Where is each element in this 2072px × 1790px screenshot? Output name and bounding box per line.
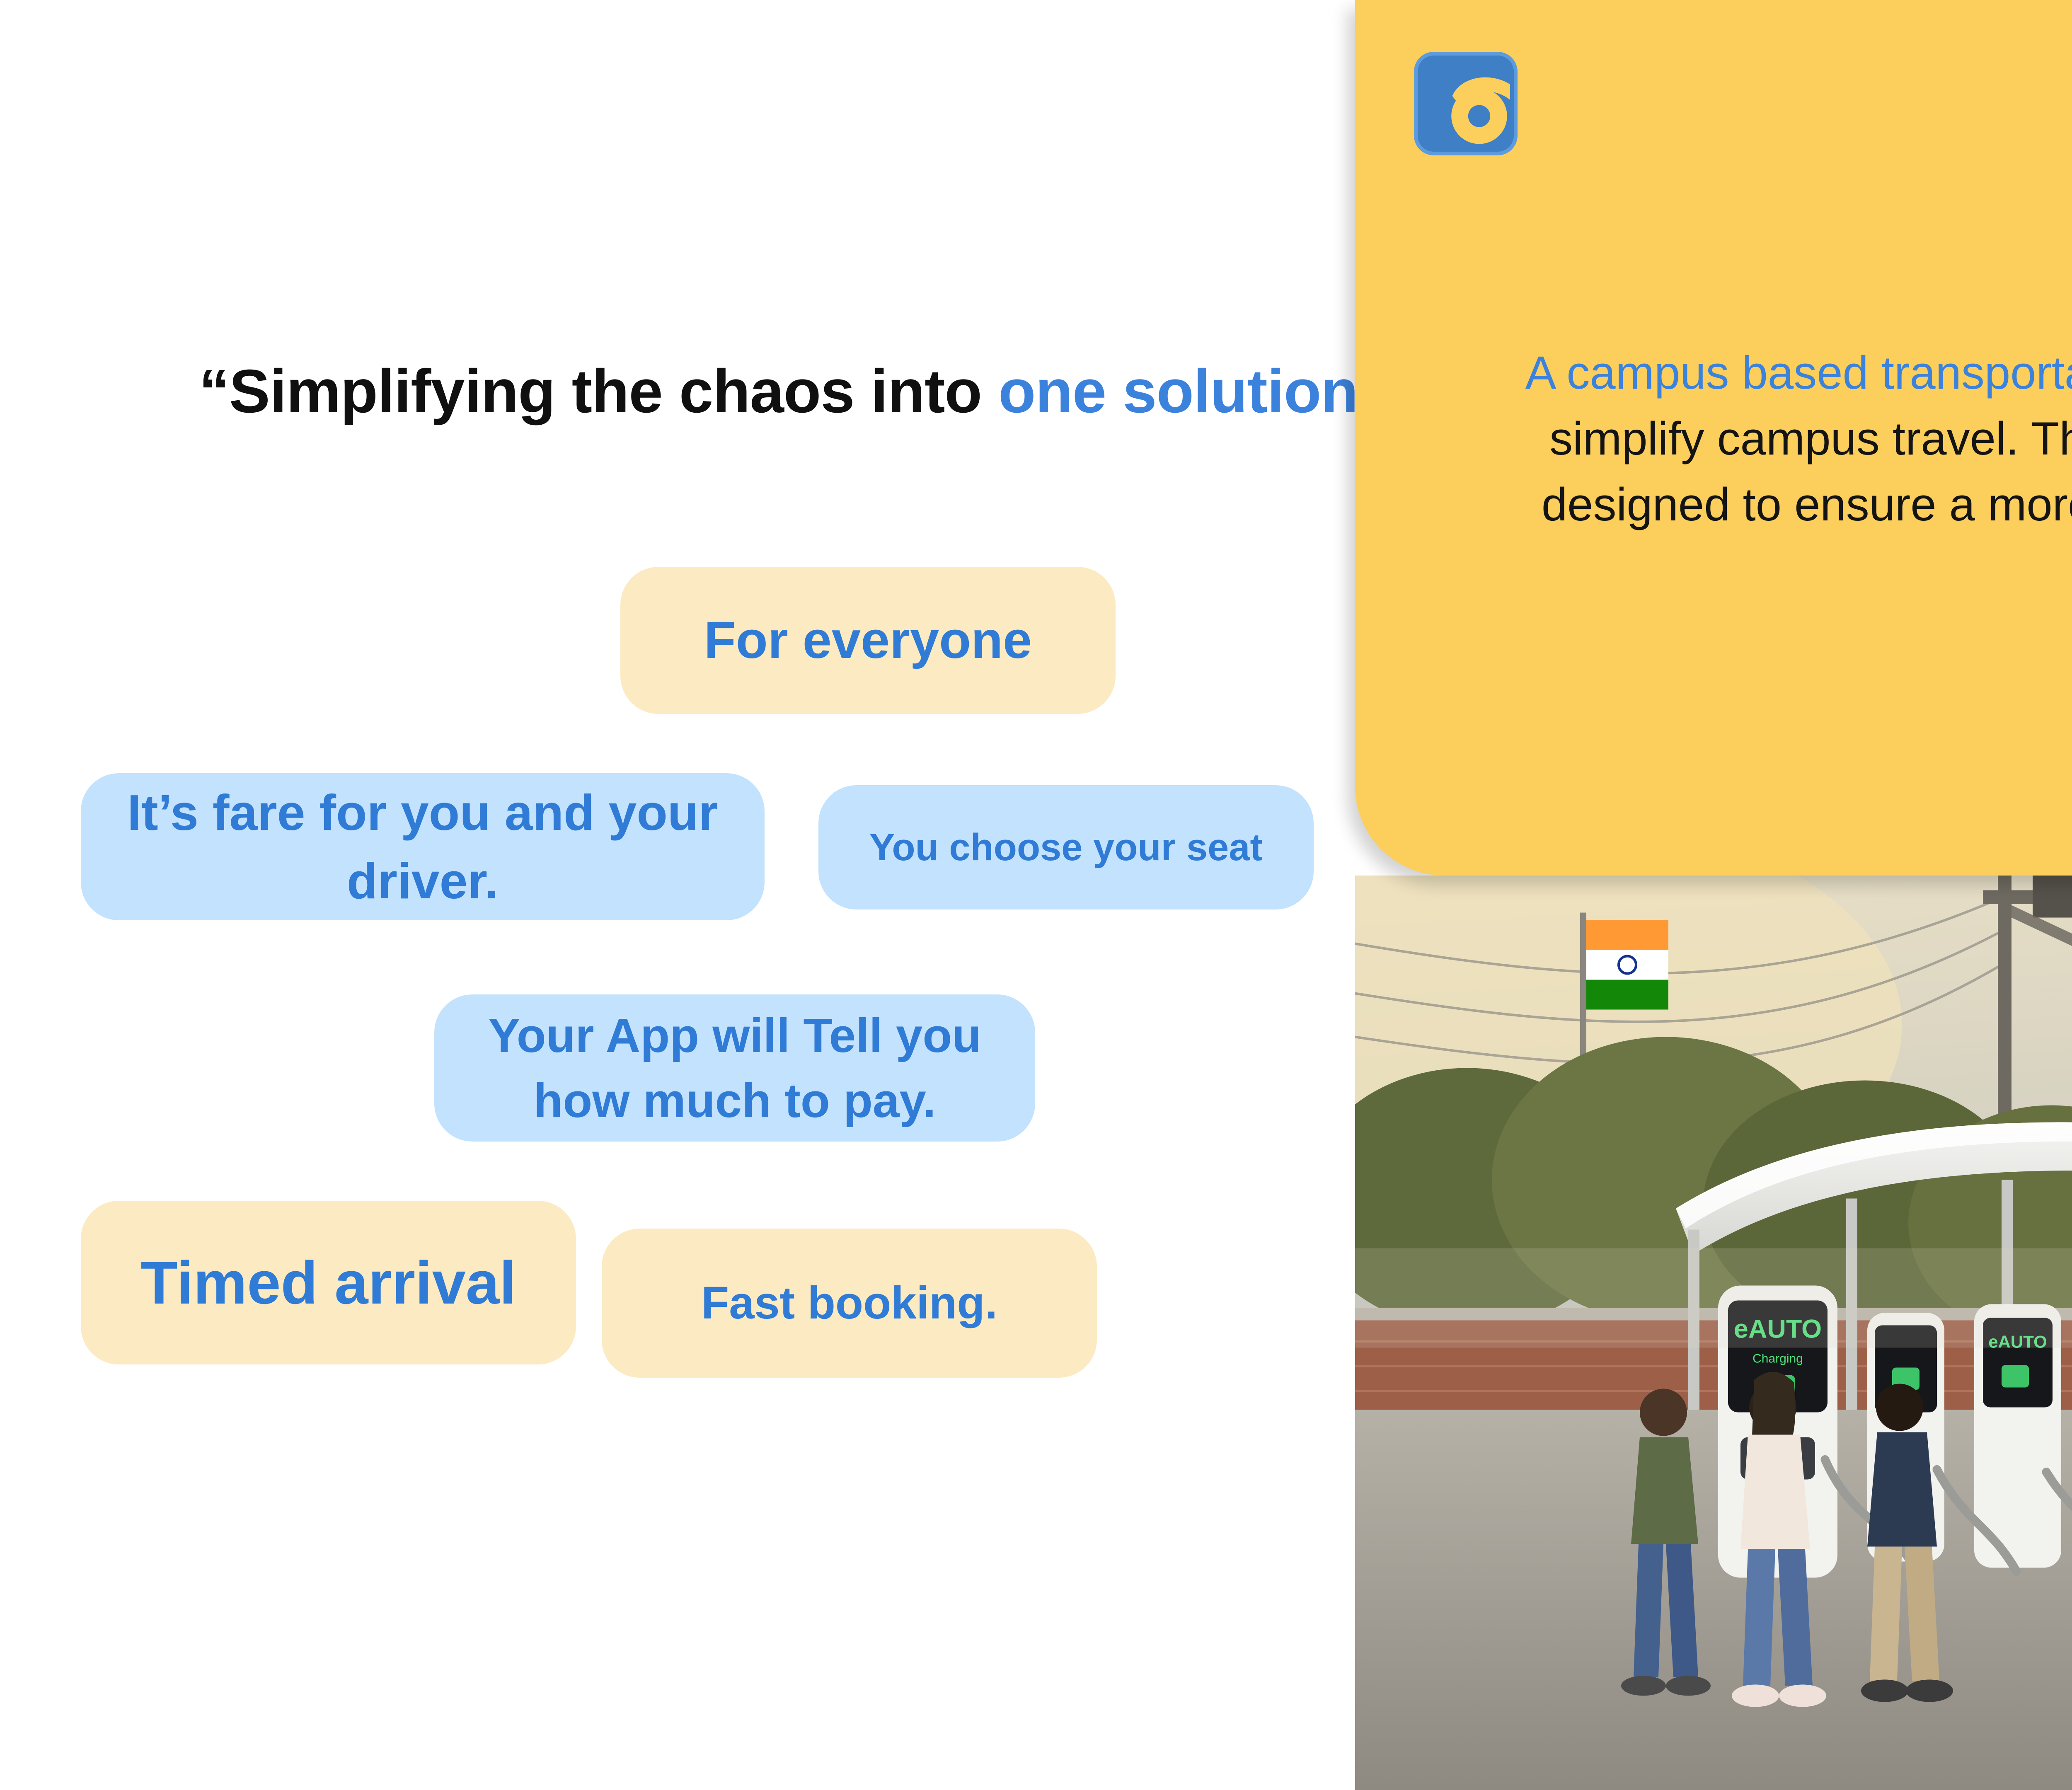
- charging-station-illustration: eAUTO Charging eAUTO eAUTO: [1355, 876, 2072, 1790]
- feature-pill-timed-arrival[interactable]: Timed arrival: [81, 1201, 576, 1364]
- feature-pill-for-everyone[interactable]: For everyone: [620, 567, 1116, 714]
- hero-photo: eAUTO Charging eAUTO eAUTO: [1355, 876, 2072, 1790]
- svg-text:Charging: Charging: [1752, 1352, 1803, 1366]
- description-accent-1: A campus based transportation system: [1525, 347, 2072, 399]
- feature-pill-fare[interactable]: It’s fare for you and your driver.: [81, 773, 765, 920]
- aato-logo-icon: [1414, 52, 1518, 155]
- feature-pill-label: You choose your seat: [869, 822, 1263, 873]
- feature-pill-fast-booking[interactable]: Fast booking.: [602, 1229, 1097, 1378]
- feature-pill-label: Your App will Tell you how much to pay.: [459, 1003, 1010, 1133]
- left-panel: “Simplifying the chaos into one solution…: [0, 0, 1355, 1790]
- feature-pill-label: Timed arrival: [140, 1242, 516, 1323]
- right-panel: eAUTO Charging eAUTO eAUTO: [1355, 0, 2072, 1790]
- feature-pill-label: It’s fare for you and your driver.: [114, 779, 731, 915]
- tagline: “Simplifying the chaos into one solution…: [199, 356, 1193, 427]
- aato-logo-glyph: [1418, 56, 1514, 152]
- tagline-accent: one solution: [998, 357, 1358, 426]
- welcome-description: A campus based transportation system cre…: [1418, 340, 2072, 537]
- feature-pill-label: Fast booking.: [701, 1272, 997, 1334]
- feature-pill-app-pay[interactable]: Your App will Tell you how much to pay.: [434, 994, 1035, 1142]
- slide-root: “Simplifying the chaos into one solution…: [0, 0, 2072, 1790]
- welcome-card: Welcome to Aato! A campus based transpor…: [1355, 0, 2072, 876]
- feature-pill-label: For everyone: [704, 605, 1032, 675]
- tagline-prefix: “Simplifying the chaos into: [199, 357, 998, 426]
- feature-pill-seat[interactable]: You choose your seat: [818, 785, 1314, 910]
